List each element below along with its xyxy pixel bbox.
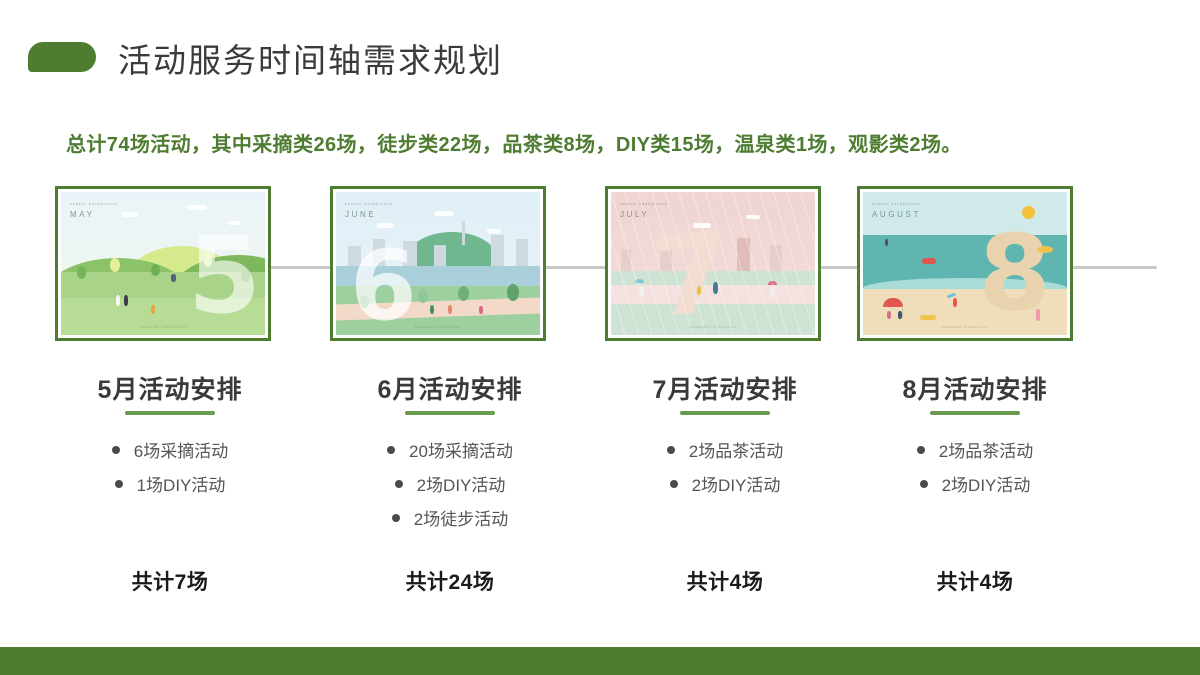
person-figure bbox=[124, 295, 128, 306]
card-month-label: JUNE bbox=[345, 210, 376, 219]
title-underline bbox=[405, 411, 495, 415]
bullet-icon bbox=[115, 480, 123, 488]
person-figure bbox=[953, 298, 957, 307]
footer-bar bbox=[0, 647, 1200, 675]
column-header: 6月活动安排 bbox=[320, 370, 580, 415]
list-item-label: 2场品茶活动 bbox=[689, 437, 783, 462]
cloud-icon bbox=[377, 223, 394, 228]
person-figure bbox=[116, 295, 120, 306]
list-item: 2场DIY活动 bbox=[595, 471, 855, 496]
card-caption-foot: seasonal illustration bbox=[690, 325, 737, 329]
timeline-cards: 5 season background MAY seasonal illustr… bbox=[0, 186, 1200, 346]
list-item-label: 2场DIY活动 bbox=[692, 471, 781, 496]
bullet-icon bbox=[670, 480, 678, 488]
column-total: 共计4场 bbox=[845, 566, 1105, 596]
list-item: 1场DIY活动 bbox=[40, 471, 300, 496]
float-ring-icon bbox=[922, 258, 936, 264]
title-underline bbox=[930, 411, 1020, 415]
person-figure bbox=[430, 305, 434, 314]
flamingo-icon bbox=[1036, 309, 1040, 321]
card-caption-small: season background bbox=[620, 202, 668, 206]
page-title: 活动服务时间轴需求规划 bbox=[118, 34, 503, 82]
column-title: 7月活动安排 bbox=[595, 370, 855, 406]
activity-list: 6场采摘活动 1场DIY活动 bbox=[40, 437, 300, 496]
tree-icon bbox=[151, 264, 160, 276]
month-illustration-august: 8 season background AUGUST seasonal illu… bbox=[863, 192, 1067, 335]
list-item-label: 2场DIY活动 bbox=[417, 471, 506, 496]
column-total: 共计24场 bbox=[320, 566, 580, 596]
month-card-june[interactable]: 6 season background JUNE seasonal illust… bbox=[330, 186, 546, 341]
list-item-label: 2场品茶活动 bbox=[939, 437, 1033, 462]
person-figure bbox=[448, 305, 452, 314]
cloud-icon bbox=[434, 211, 454, 216]
tower-icon bbox=[462, 221, 465, 245]
list-item: 20场采摘活动 bbox=[320, 437, 580, 462]
bullet-icon bbox=[917, 446, 925, 454]
bullet-icon bbox=[667, 446, 675, 454]
column-total: 共计7场 bbox=[40, 566, 300, 596]
bullet-icon bbox=[387, 446, 395, 454]
beach-mat bbox=[920, 315, 936, 320]
list-item: 2场DIY活动 bbox=[320, 471, 580, 496]
slide-root: 活动服务时间轴需求规划 总计74场活动，其中采摘类26场，徒步类22场，品茶类8… bbox=[0, 0, 1200, 675]
column-total: 共计4场 bbox=[595, 566, 855, 596]
month-column-july: 7月活动安排 2场品茶活动 2场DIY活动 共计4场 bbox=[595, 370, 855, 505]
list-item-label: 1场DIY活动 bbox=[137, 471, 226, 496]
column-title: 8月活动安排 bbox=[845, 370, 1105, 406]
umbrella-pole bbox=[902, 306, 904, 318]
month-numeral: 8 bbox=[979, 221, 1051, 325]
activity-list: 2场品茶活动 2场DIY活动 bbox=[595, 437, 855, 496]
tree-icon bbox=[110, 258, 120, 272]
month-illustration-may: 5 season background MAY seasonal illustr… bbox=[61, 192, 265, 335]
cloud-icon bbox=[187, 205, 207, 210]
cloud-icon bbox=[487, 229, 501, 233]
month-column-june: 6月活动安排 20场采摘活动 2场DIY活动 2场徒步活动 共计24场 bbox=[320, 370, 580, 539]
list-item-label: 6场采摘活动 bbox=[134, 437, 228, 462]
list-item: 2场徒步活动 bbox=[320, 505, 580, 530]
person-figure bbox=[479, 306, 483, 314]
month-card-august[interactable]: 8 season background AUGUST seasonal illu… bbox=[857, 186, 1073, 341]
card-caption-foot: seasonal illustration bbox=[415, 325, 462, 329]
list-item-label: 2场DIY活动 bbox=[942, 471, 1031, 496]
card-caption-small: season background bbox=[872, 202, 920, 206]
bullet-icon bbox=[112, 446, 120, 454]
bullet-icon bbox=[392, 514, 400, 522]
tree-icon bbox=[507, 284, 519, 301]
list-item-label: 2场徒步活动 bbox=[414, 505, 508, 530]
tree-icon bbox=[418, 289, 428, 303]
column-header: 8月活动安排 bbox=[845, 370, 1105, 415]
summary-text: 总计74场活动，其中采摘类26场，徒步类22场，品茶类8场，DIY类15场，温泉… bbox=[66, 128, 962, 157]
month-column-august: 8月活动安排 2场品茶活动 2场DIY活动 共计4场 bbox=[845, 370, 1105, 505]
month-card-july[interactable]: 7 season background JULY seasonal illust… bbox=[605, 186, 821, 341]
card-caption-small: season background bbox=[70, 202, 118, 206]
building-shape bbox=[491, 235, 504, 269]
accent-mark-icon bbox=[28, 42, 96, 72]
month-numeral: 5 bbox=[188, 224, 261, 329]
person-figure bbox=[151, 305, 155, 314]
activity-list: 20场采摘活动 2场DIY活动 2场徒步活动 bbox=[320, 437, 580, 530]
activity-list: 2场品茶活动 2场DIY活动 bbox=[845, 437, 1105, 496]
card-month-label: MAY bbox=[70, 210, 95, 219]
list-item: 2场品茶活动 bbox=[595, 437, 855, 462]
bullet-icon bbox=[920, 480, 928, 488]
bullet-icon bbox=[395, 480, 403, 488]
list-item: 2场品茶活动 bbox=[845, 437, 1105, 462]
card-month-label: JULY bbox=[620, 210, 649, 219]
list-item: 2场DIY活动 bbox=[845, 471, 1105, 496]
card-caption-foot: seasonal illustration bbox=[942, 325, 989, 329]
title-underline bbox=[680, 411, 770, 415]
column-header: 5月活动安排 bbox=[40, 370, 300, 415]
title-underline bbox=[125, 411, 215, 415]
card-month-label: AUGUST bbox=[872, 210, 921, 219]
person-figure bbox=[171, 274, 176, 282]
month-card-may[interactable]: 5 season background MAY seasonal illustr… bbox=[55, 186, 271, 341]
cloud-icon bbox=[122, 212, 138, 217]
month-column-may: 5月活动安排 6场采摘活动 1场DIY活动 共计7场 bbox=[40, 370, 300, 505]
column-header: 7月活动安排 bbox=[595, 370, 855, 415]
month-illustration-july: 7 season background JULY seasonal illust… bbox=[611, 192, 815, 335]
list-item: 6场采摘活动 bbox=[40, 437, 300, 462]
column-title: 5月活动安排 bbox=[40, 370, 300, 406]
building-shape bbox=[516, 239, 528, 269]
month-illustration-june: 6 season background JUNE seasonal illust… bbox=[336, 192, 540, 335]
month-numeral: 6 bbox=[350, 238, 417, 334]
month-detail-columns: 5月活动安排 6场采摘活动 1场DIY活动 共计7场 6月活动安排 20场采摘活… bbox=[0, 370, 1200, 630]
list-item-label: 20场采摘活动 bbox=[409, 437, 513, 462]
card-caption-foot: seasonal illustration bbox=[140, 325, 187, 329]
column-title: 6月活动安排 bbox=[320, 370, 580, 406]
slide-header: 活动服务时间轴需求规划 bbox=[0, 0, 1200, 100]
card-caption-small: season background bbox=[345, 202, 393, 206]
person-figure bbox=[898, 311, 902, 319]
